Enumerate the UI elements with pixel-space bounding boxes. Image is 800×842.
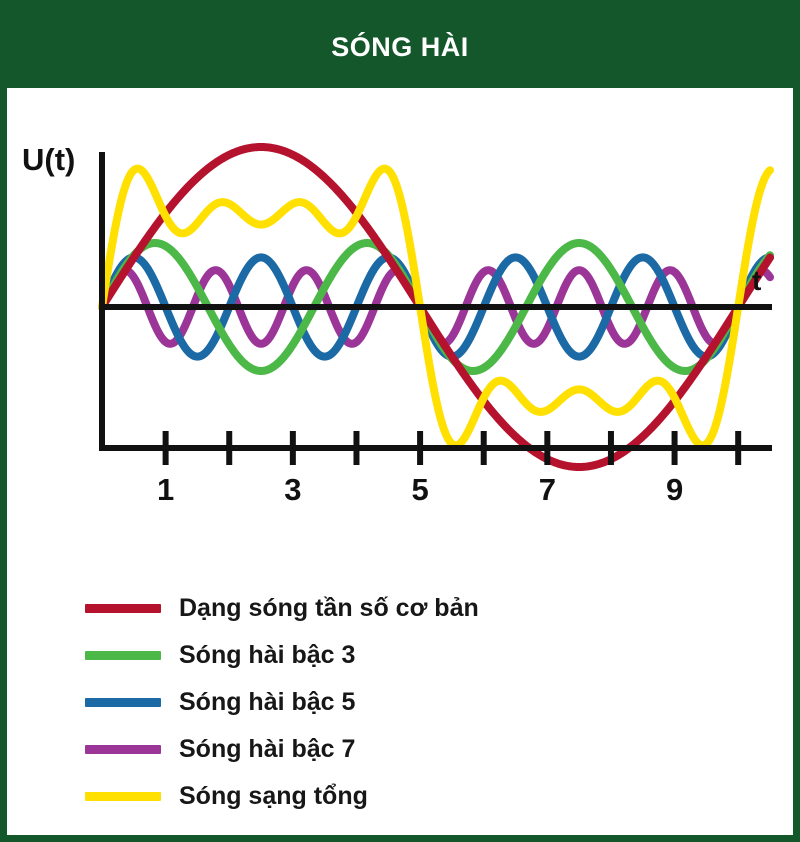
x-axis-tick-label: 1 bbox=[157, 472, 174, 507]
legend-swatch-harmonic-5 bbox=[85, 698, 161, 707]
legend: Dạng sóng tần số cơ bảnSóng hài bậc 3Són… bbox=[85, 585, 685, 820]
y-axis-label: U(t) bbox=[22, 142, 75, 177]
legend-item-harmonic-5[interactable]: Sóng hài bậc 5 bbox=[85, 679, 685, 726]
legend-item-sum-wave[interactable]: Sóng sạng tổng bbox=[85, 773, 685, 820]
card-header: SÓNG HÀI bbox=[7, 7, 793, 88]
legend-label-harmonic-5: Sóng hài bậc 5 bbox=[179, 690, 355, 715]
waveform-svg: 13579 U(t) t bbox=[0, 88, 786, 548]
legend-item-harmonic-3[interactable]: Sóng hài bậc 3 bbox=[85, 632, 685, 679]
page-title: SÓNG HÀI bbox=[7, 7, 793, 88]
legend-item-fundamental[interactable]: Dạng sóng tần số cơ bản bbox=[85, 585, 685, 632]
legend-swatch-fundamental bbox=[85, 604, 161, 613]
legend-label-fundamental: Dạng sóng tần số cơ bản bbox=[179, 596, 479, 621]
x-axis-tick-labels: 13579 bbox=[157, 472, 683, 507]
legend-swatch-harmonic-7 bbox=[85, 745, 161, 754]
legend-item-harmonic-7[interactable]: Sóng hài bậc 7 bbox=[85, 726, 685, 773]
x-axis-label: t bbox=[752, 265, 761, 296]
legend-swatch-harmonic-3 bbox=[85, 651, 161, 660]
x-axis-tick-label: 3 bbox=[284, 472, 301, 507]
legend-label-sum-wave: Sóng sạng tổng bbox=[179, 784, 368, 809]
x-axis-tick-label: 5 bbox=[411, 472, 428, 507]
x-axis-tick-label: 7 bbox=[539, 472, 556, 507]
legend-swatch-sum-wave bbox=[85, 792, 161, 801]
axis-group bbox=[99, 152, 772, 465]
legend-label-harmonic-3: Sóng hài bậc 3 bbox=[179, 643, 355, 668]
chart-card: SÓNG HÀI 13579 U(t) t Dạng sóng tần số c… bbox=[0, 0, 800, 842]
waveform-plot: 13579 U(t) t bbox=[0, 88, 786, 548]
x-axis-tick-label: 9 bbox=[666, 472, 683, 507]
legend-label-harmonic-7: Sóng hài bậc 7 bbox=[179, 737, 355, 762]
